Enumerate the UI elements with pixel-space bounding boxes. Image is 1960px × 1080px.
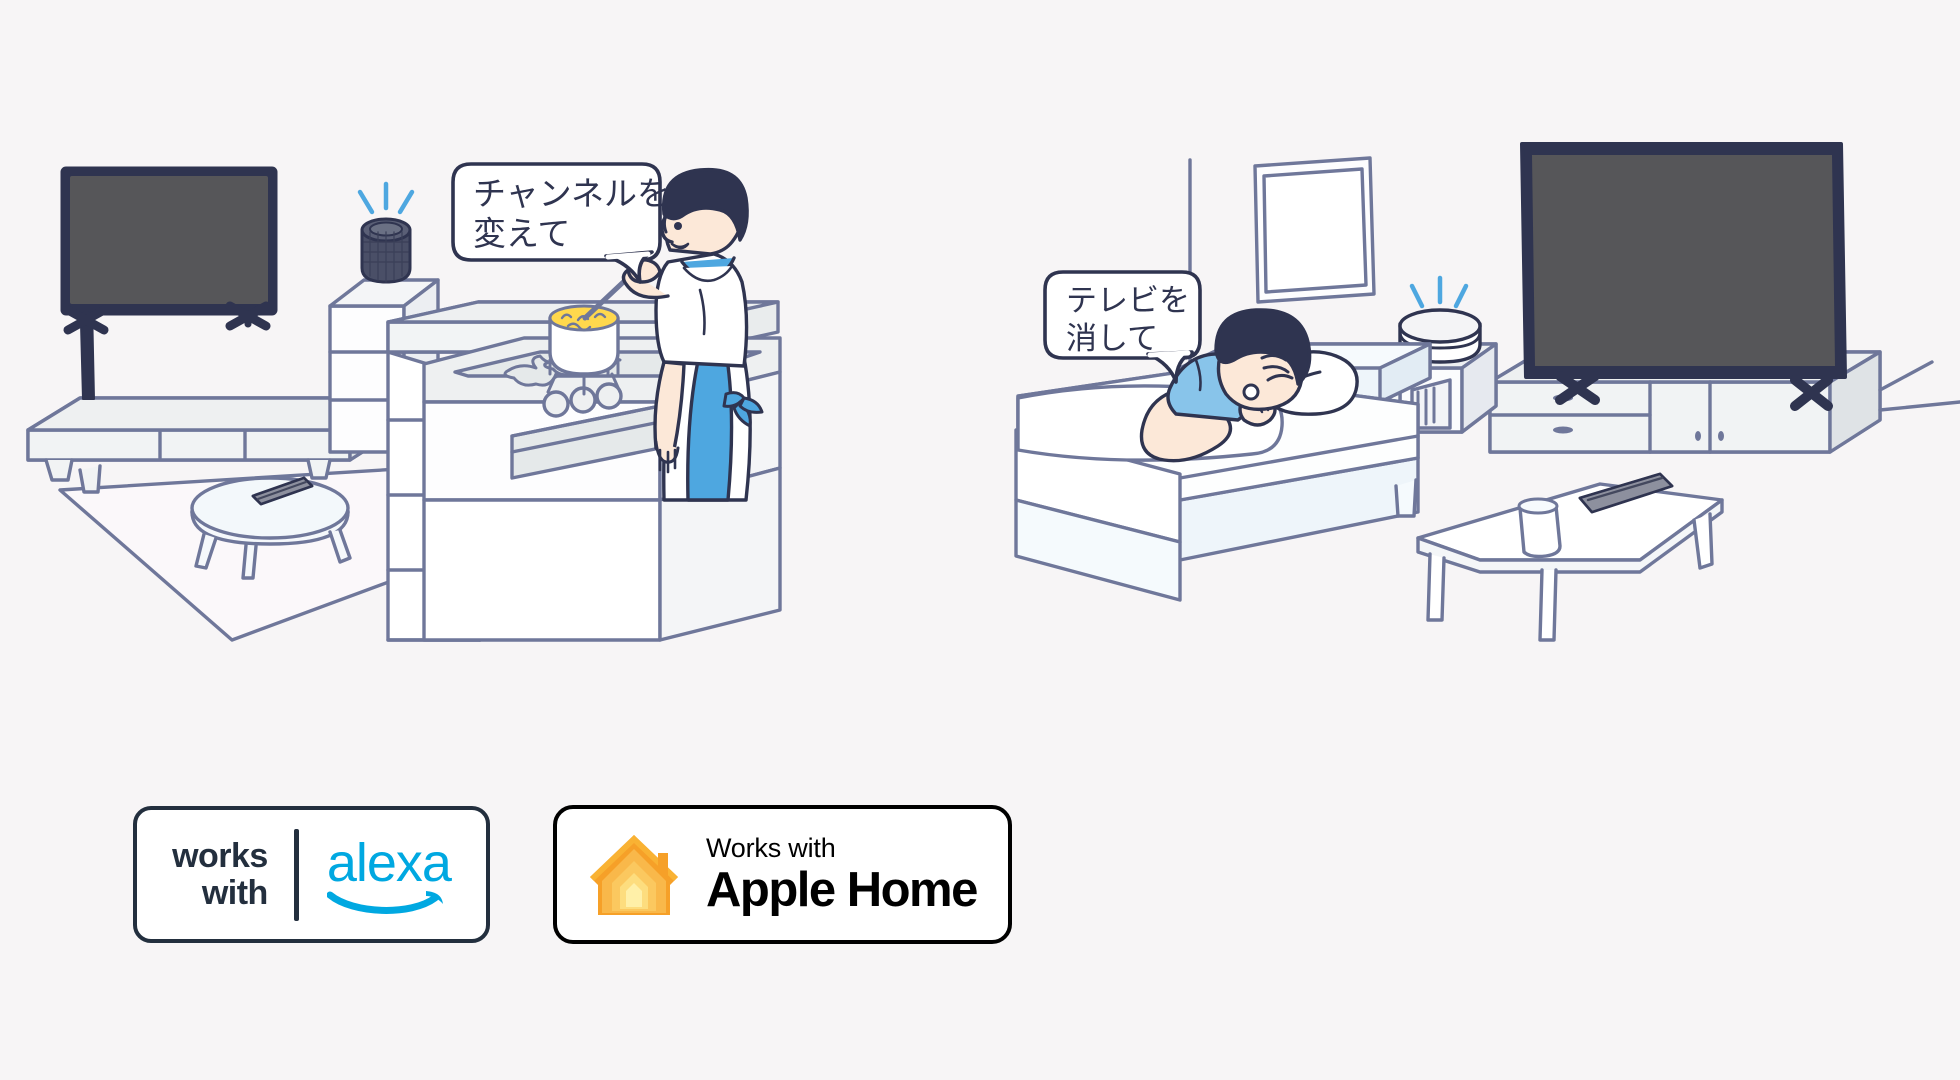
drinking-glass [1519,499,1560,557]
speech-line-2: 変えて [473,215,570,252]
apple-works-with-line: Works with [706,834,977,864]
speech-line-1: チャンネルを [473,175,670,212]
works-with-apple-home-badge[interactable]: Works with Apple Home [553,805,1012,944]
apple-home-brand-text: Apple Home [706,866,977,915]
picture-frame [1255,158,1374,302]
works-with-alexa-text: works with [172,838,294,911]
alexa-wordmark: alexa [299,836,451,914]
flat-screen-tv [1522,144,1845,406]
flat-screen-tv [62,168,276,399]
cylinder-smart-speaker [362,219,410,282]
coffee-table [1418,474,1722,640]
speech-line-2: 消して [1066,321,1158,356]
alexa-with-line: with [172,875,268,912]
speaker-listening-rays [360,184,412,212]
apple-home-text: Works with Apple Home [706,834,977,915]
speaker-listening-rays [1412,278,1466,306]
alexa-works-line: works [172,838,268,875]
works-with-alexa-badge[interactable]: works with alexa [133,806,490,943]
amazon-smile-icon [327,890,451,914]
apple-home-house-icon [586,827,682,923]
badge-row: works with alexa [133,805,1012,944]
illustration-stage: チャンネルを 変えて テレビを 消して works with alexa [0,0,1960,1080]
speech-line-1: テレビを [1066,283,1190,318]
alexa-brand-text: alexa [327,836,451,890]
